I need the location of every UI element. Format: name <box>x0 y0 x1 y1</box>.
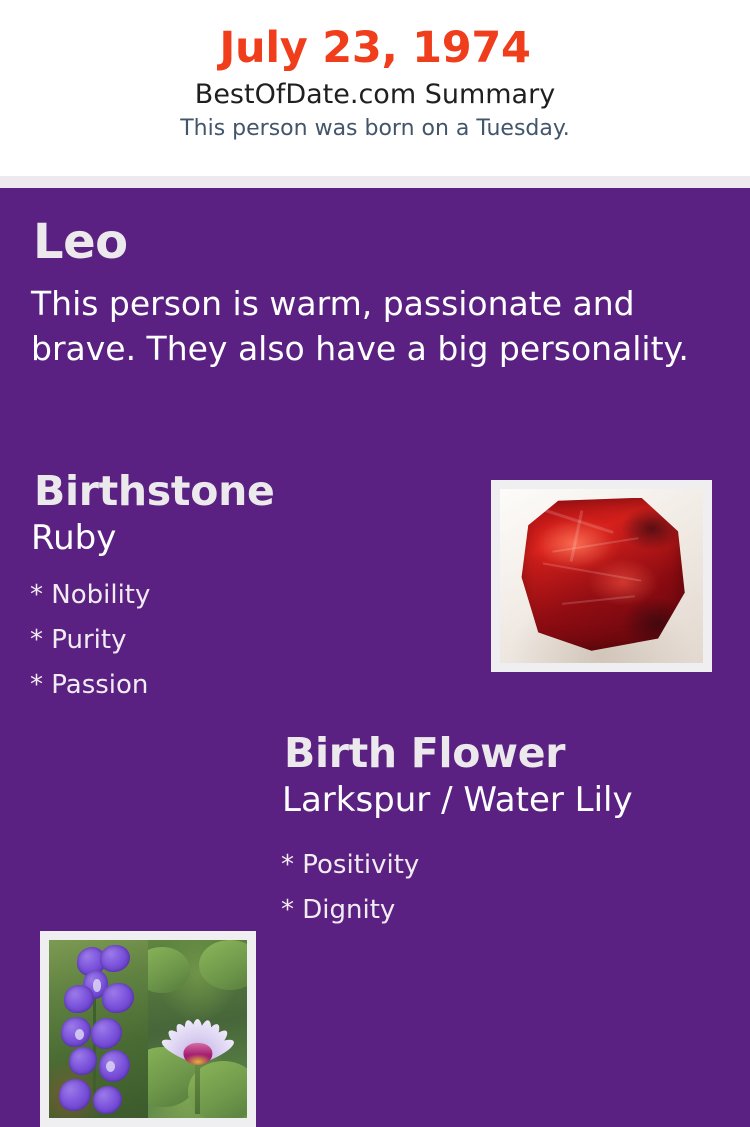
header: July 23, 1974 BestOfDate.com Summary Thi… <box>0 0 750 176</box>
water-lily-photo <box>148 940 247 1118</box>
zodiac-sign-name: Leo <box>33 218 128 266</box>
list-item: * Positivity <box>281 843 419 888</box>
larkspur-photo <box>49 940 148 1118</box>
birth-flower-image-frame <box>40 931 256 1127</box>
page-title-date: July 23, 1974 <box>0 0 750 71</box>
birth-flower-photos <box>49 940 247 1118</box>
birth-flower-title: Birth Flower <box>284 733 565 774</box>
larkspur-petal <box>64 985 94 1013</box>
birthstone-image-frame <box>491 480 712 672</box>
list-item: * Purity <box>30 618 150 663</box>
list-item: * Passion <box>30 663 150 708</box>
birthstone-trait-list: * Nobility * Purity * Passion <box>30 573 150 708</box>
list-item: * Nobility <box>30 573 150 618</box>
birth-flower-name: Larkspur / Water Lily <box>282 783 633 817</box>
larkspur-petal <box>102 983 134 1013</box>
ruby-facet-line <box>562 595 635 605</box>
list-item: * Dignity <box>281 888 419 933</box>
larkspur-petal <box>100 945 130 972</box>
lily-pad <box>148 947 190 993</box>
ruby-facet-line <box>542 563 641 582</box>
ruby-gem-shape <box>518 498 684 651</box>
site-summary-label: BestOfDate.com Summary <box>0 71 750 109</box>
larkspur-petal <box>59 1079 91 1111</box>
lily-stamen-center <box>183 1043 212 1065</box>
lily-pad <box>199 940 247 990</box>
birth-flower-trait-list: * Positivity * Dignity <box>281 843 419 933</box>
larkspur-center <box>93 979 102 991</box>
header-divider <box>0 176 750 188</box>
birthstone-name: Ruby <box>31 521 116 555</box>
water-lily-bloom <box>155 993 240 1068</box>
birth-day-note: This person was born on a Tuesday. <box>0 109 750 140</box>
ruby-facet-line <box>552 537 638 553</box>
larkspur-petal <box>93 1086 123 1114</box>
zodiac-description: This person is warm, passionate and brav… <box>31 282 691 372</box>
larkspur-petal <box>91 1018 123 1048</box>
summary-card: July 23, 1974 BestOfDate.com Summary Thi… <box>0 0 750 1000</box>
content-panel: Leo This person is warm, passionate and … <box>0 188 750 1000</box>
birthstone-title: Birthstone <box>34 471 274 512</box>
ruby-crystal-photo <box>500 489 703 663</box>
larkspur-center <box>75 1029 84 1040</box>
